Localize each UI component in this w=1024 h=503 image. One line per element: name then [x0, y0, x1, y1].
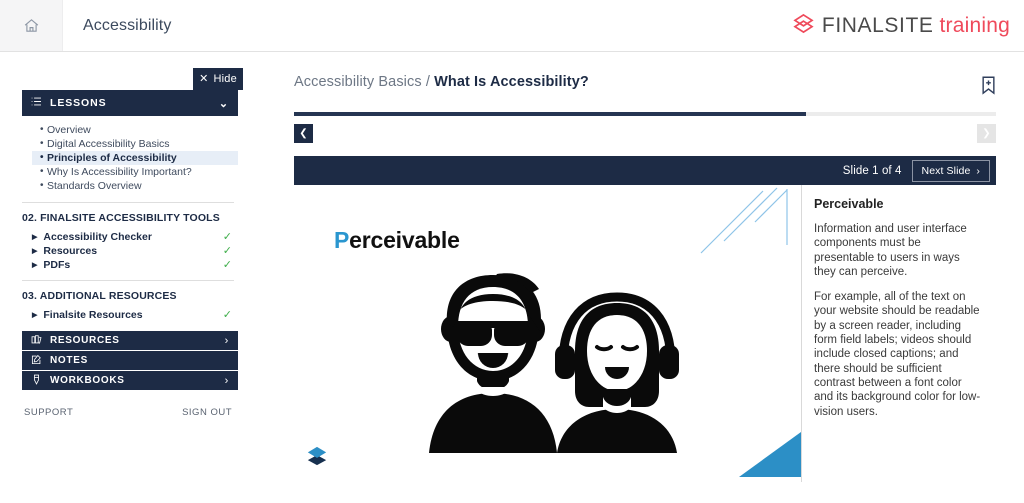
nav-block-label: RESOURCES: [50, 335, 120, 346]
page-title: Accessibility: [63, 0, 171, 51]
slide-container: Slide 1 of 4 Next Slide › Perceivable: [294, 156, 996, 482]
sidebar-footer: SUPPORT SIGN OUT: [22, 391, 238, 418]
chevron-right-icon: ›: [225, 375, 229, 387]
next-slide-label: Next Slide: [922, 165, 971, 177]
lesson-label: Principles of Accessibility: [47, 152, 177, 164]
slide-nav-row: ❮ ❯: [294, 124, 996, 143]
pen-icon: [31, 374, 42, 388]
info-panel-paragraph-1: Information and user interface component…: [814, 222, 982, 279]
nav-block-resources[interactable]: RESOURCES ›: [22, 331, 238, 350]
triangle-decoration-icon: [735, 432, 801, 482]
section-title-additional-resources: 03. ADDITIONAL RESOURCES: [22, 290, 238, 302]
close-icon: ✕: [199, 74, 208, 85]
lessons-header[interactable]: LESSONS ⌄: [22, 90, 238, 116]
divider: [22, 202, 234, 203]
bullet-icon: •: [40, 139, 47, 149]
section-title-tools: 02. FINALSITE ACCESSIBILITY TOOLS: [22, 212, 238, 224]
bookmark-add-button[interactable]: [981, 74, 996, 100]
bullet-icon: •: [40, 181, 47, 191]
nav-block-label: NOTES: [50, 355, 88, 366]
section-item-label: Resources: [43, 245, 97, 257]
main-content: Accessibility Basics / What Is Accessibi…: [250, 52, 1024, 503]
previous-page-button[interactable]: ❮: [294, 124, 313, 143]
support-link[interactable]: SUPPORT: [24, 407, 73, 418]
brand-subtitle: training: [940, 14, 1010, 38]
breadcrumb-row: Accessibility Basics / What Is Accessibi…: [294, 74, 996, 100]
list-icon: [31, 96, 42, 110]
chevron-right-icon: ›: [225, 335, 229, 347]
diagonal-lines-decoration-icon: [691, 185, 801, 255]
sidebar-nav-blocks: RESOURCES › NOTES WORKBOOKS: [22, 331, 238, 390]
slide-counter: Slide 1 of 4: [843, 165, 902, 177]
lesson-label: Digital Accessibility Basics: [47, 138, 170, 150]
nav-block-label: WORKBOOKS: [50, 375, 125, 386]
brand-name: FINALSITE: [822, 14, 934, 38]
section-item-accessibility-checker[interactable]: ▶ Accessibility Checker ✓: [22, 230, 238, 243]
section-item-label: Finalsite Resources: [43, 309, 142, 321]
divider: [22, 280, 234, 281]
two-people-sunglasses-headphones-icon: [403, 271, 693, 461]
slide-heading-accent: P: [334, 227, 349, 253]
triangle-right-icon: ▶: [32, 261, 37, 269]
bullet-icon: •: [40, 125, 47, 135]
chevron-right-icon: ❯: [982, 128, 990, 139]
slide-heading: Perceivable: [334, 227, 460, 254]
chevron-left-icon: ❮: [299, 128, 307, 139]
section-item-pdfs[interactable]: ▶ PDFs ✓: [22, 258, 238, 271]
lesson-item-overview[interactable]: • Overview: [32, 123, 238, 137]
section-item-label: Accessibility Checker: [43, 231, 152, 243]
bullet-icon: •: [40, 153, 47, 163]
info-panel-title: Perceivable: [814, 197, 982, 211]
lesson-list: • Overview • Digital Accessibility Basic…: [22, 123, 238, 193]
lesson-item-digital-accessibility-basics[interactable]: • Digital Accessibility Basics: [32, 137, 238, 151]
slide-heading-rest: erceivable: [349, 227, 460, 253]
lesson-progress-bar: [294, 112, 996, 116]
brand-logo: FINALSITE training: [791, 0, 1024, 51]
nav-block-workbooks[interactable]: WORKBOOKS ›: [22, 371, 238, 390]
lesson-label: Overview: [47, 124, 91, 136]
lesson-label: Standards Overview: [47, 180, 142, 192]
check-icon: ✓: [223, 244, 232, 257]
slide-header-bar: Slide 1 of 4 Next Slide ›: [294, 156, 996, 185]
breadcrumb-parent[interactable]: Accessibility Basics /: [294, 74, 434, 90]
nav-block-notes[interactable]: NOTES: [22, 351, 238, 370]
lesson-item-why-is-accessibility-important[interactable]: • Why Is Accessibility Important?: [32, 165, 238, 179]
breadcrumb-current: What Is Accessibility?: [434, 74, 589, 90]
finalsite-diamond-icon: [791, 11, 816, 41]
note-edit-icon: [31, 354, 42, 368]
check-icon: ✓: [223, 230, 232, 243]
lesson-progress-fill: [294, 112, 806, 116]
chevron-right-icon: ›: [976, 165, 980, 177]
layers-diamond-icon: [306, 445, 328, 472]
sign-out-link[interactable]: SIGN OUT: [182, 407, 232, 418]
bookmark-add-icon: [981, 82, 996, 99]
bullet-icon: •: [40, 167, 47, 177]
home-button[interactable]: [0, 0, 63, 51]
hide-sidebar-button[interactable]: ✕ Hide: [193, 68, 243, 90]
section-item-label: PDFs: [43, 259, 70, 271]
lessons-label: LESSONS: [50, 97, 106, 109]
home-icon: [23, 17, 40, 34]
check-icon: ✓: [223, 308, 232, 321]
info-panel-paragraph-2: For example, all of the text on your web…: [814, 290, 982, 419]
top-bar: Accessibility FINALSITE training: [0, 0, 1024, 52]
hide-label: Hide: [213, 73, 236, 85]
chevron-down-icon[interactable]: ⌄: [219, 97, 229, 110]
slide-stage: Perceivable: [294, 185, 801, 482]
next-slide-button[interactable]: Next Slide ›: [912, 160, 990, 182]
books-icon: [31, 334, 42, 348]
lesson-label: Why Is Accessibility Important?: [47, 166, 192, 178]
triangle-right-icon: ▶: [32, 233, 37, 241]
triangle-right-icon: ▶: [32, 247, 37, 255]
next-page-button[interactable]: ❯: [977, 124, 996, 143]
triangle-right-icon: ▶: [32, 311, 37, 319]
breadcrumb: Accessibility Basics / What Is Accessibi…: [294, 74, 589, 90]
sidebar: ✕ Hide LESSONS ⌄ • Overview • Digital Ac…: [0, 52, 250, 503]
slide-body: Perceivable: [294, 185, 996, 482]
check-icon: ✓: [223, 258, 232, 271]
slide-info-panel: Perceivable Information and user interfa…: [801, 185, 996, 482]
lesson-item-standards-overview[interactable]: • Standards Overview: [32, 179, 238, 193]
section-item-finalsite-resources[interactable]: ▶ Finalsite Resources ✓: [22, 308, 238, 321]
section-item-resources[interactable]: ▶ Resources ✓: [22, 244, 238, 257]
lesson-item-principles-of-accessibility[interactable]: • Principles of Accessibility: [32, 151, 238, 165]
